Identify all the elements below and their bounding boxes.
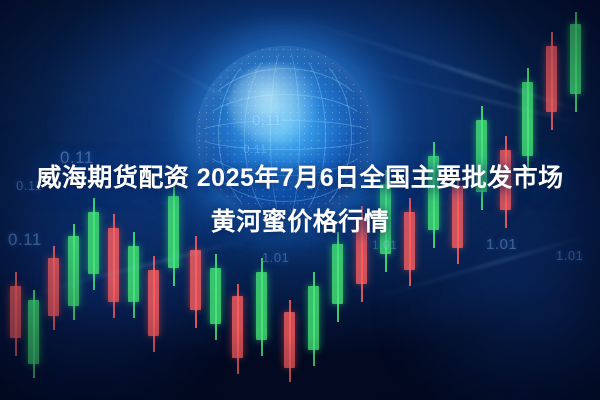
candle-wick <box>53 246 55 330</box>
price-label: 0.11 <box>252 112 282 129</box>
candlestick-up <box>570 12 581 112</box>
candlestick-down <box>546 32 557 130</box>
candlestick-down <box>284 300 295 382</box>
price-label: 1.01 <box>556 248 583 263</box>
candlestick-up <box>332 232 343 322</box>
candle-wick <box>215 254 217 340</box>
headline-line-1: 威海期货配资 2025年7月6日全国主要批发市场 <box>0 156 600 200</box>
headline-text: 威海期货配资 2025年7月6日全国主要批发市场 黄河蜜价格行情 <box>0 156 600 244</box>
price-label: 1.01 <box>262 250 289 265</box>
candlestick-down <box>48 246 59 330</box>
candlestick-up <box>256 258 267 356</box>
globe-highlight <box>228 64 326 144</box>
candle-wick <box>289 300 291 382</box>
candlestick-down <box>232 284 243 374</box>
price-label: 0.11 <box>243 142 267 156</box>
candle-body <box>128 246 139 302</box>
candle-body <box>148 270 159 336</box>
candle-body <box>48 258 59 316</box>
candle-body <box>256 272 267 340</box>
candle-wick <box>195 236 197 328</box>
candle-body <box>68 236 79 306</box>
candle-wick <box>153 256 155 352</box>
candle-body <box>284 312 295 368</box>
candle-wick <box>551 32 553 130</box>
candle-body <box>210 268 221 324</box>
candle-body <box>332 244 343 304</box>
candle-body <box>28 300 39 364</box>
candle-wick <box>237 284 239 374</box>
candle-wick <box>133 232 135 318</box>
candle-body <box>190 250 201 310</box>
candlestick-down <box>10 272 21 356</box>
headline-line-2: 黄河蜜价格行情 <box>0 200 600 244</box>
candle-wick <box>33 290 35 378</box>
candle-body <box>10 286 21 338</box>
candlestick-up <box>128 232 139 318</box>
candle-body <box>522 82 533 156</box>
candlestick-down <box>190 236 201 328</box>
candlestick-up <box>308 272 319 366</box>
candlestick-down <box>148 256 159 352</box>
candle-wick <box>337 232 339 322</box>
candle-wick <box>575 12 577 112</box>
candle-body <box>546 46 557 112</box>
candle-wick <box>15 272 17 356</box>
candlestick-up <box>28 290 39 378</box>
candle-body <box>308 286 319 350</box>
candle-body <box>232 296 243 358</box>
candle-body <box>570 24 581 94</box>
news-cover-image: 0.110.110.110.110.111.011.011.011.01 威海期… <box>0 0 600 400</box>
candlestick-up <box>210 254 221 340</box>
candle-wick <box>261 258 263 356</box>
candle-wick <box>313 272 315 366</box>
